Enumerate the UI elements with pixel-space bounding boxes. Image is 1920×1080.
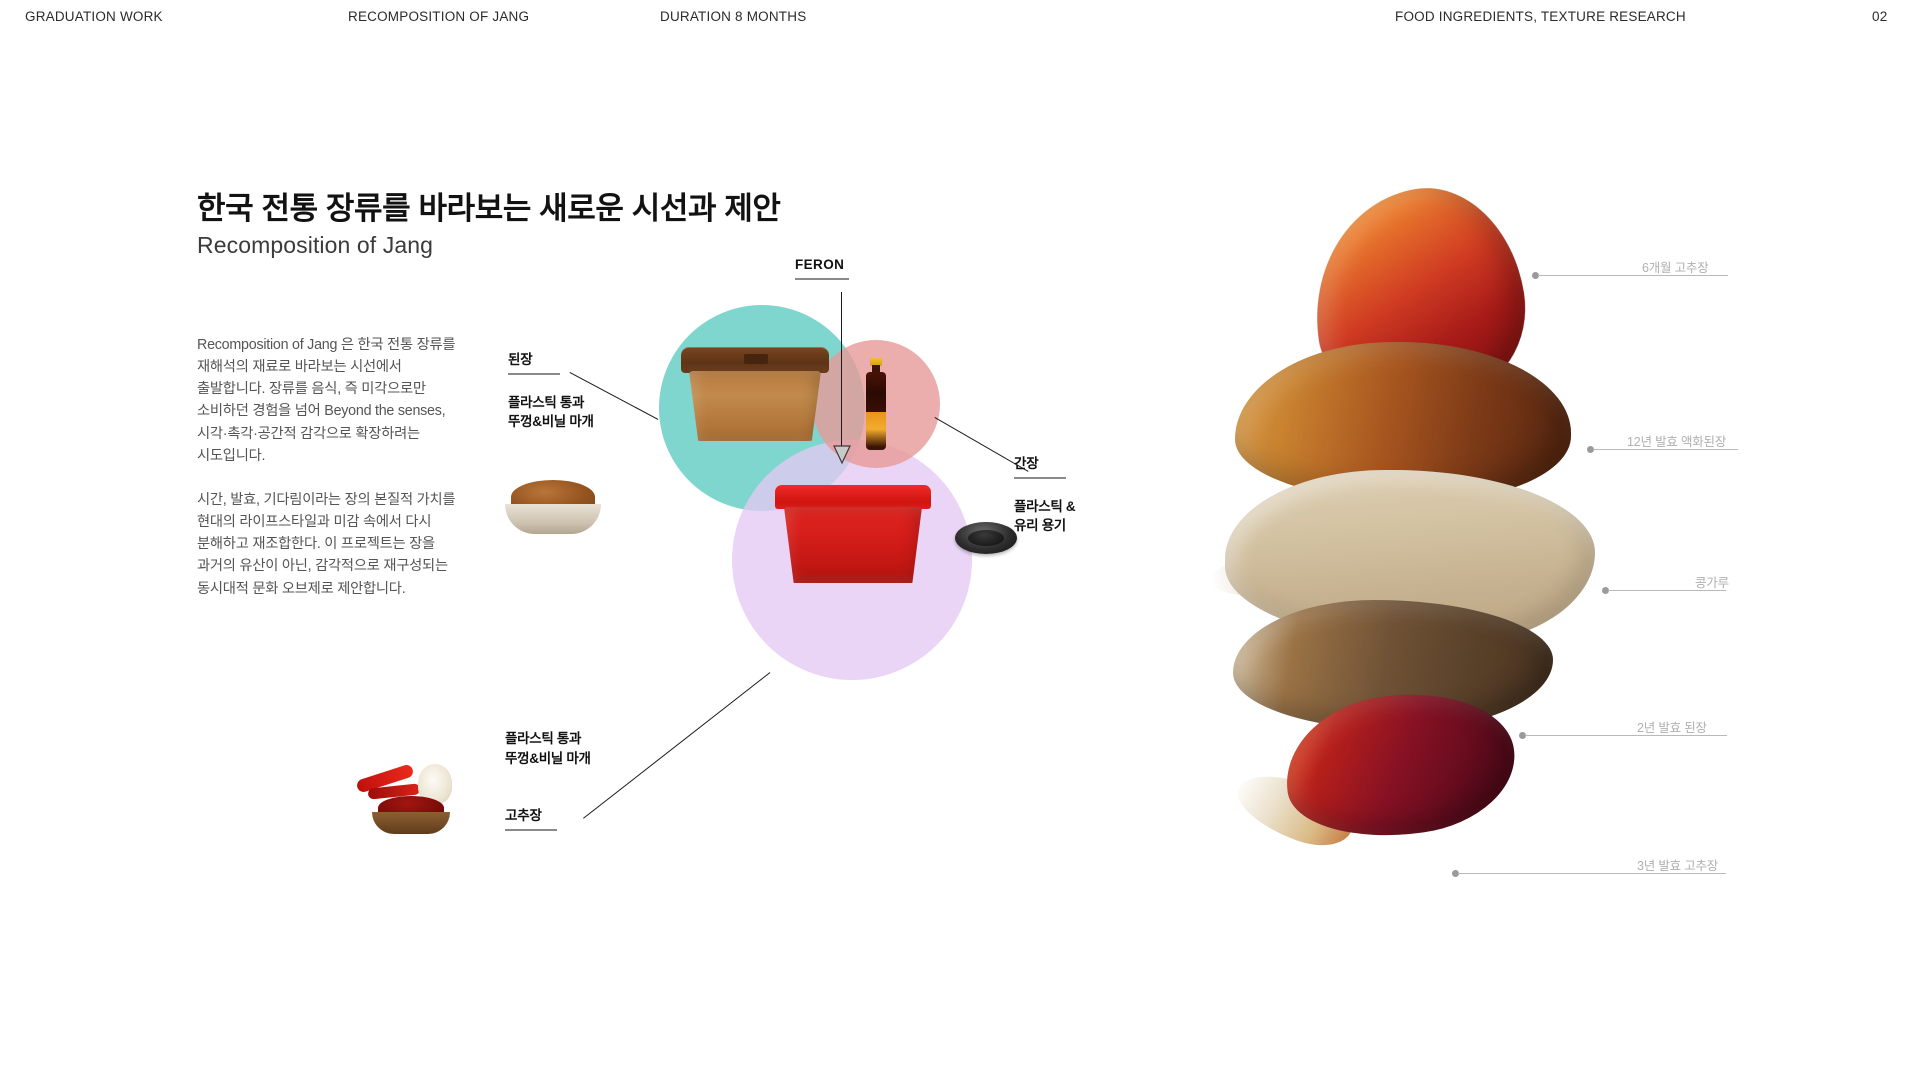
callout-gochujang-sub: 플라스틱 통과 뚜껑&비닐 마개 [505,729,591,768]
callout-sub-line-2: 뚜껑&비닐 마개 [508,412,594,432]
title-english: Recomposition of Jang [197,232,781,259]
description-paragraph-2: 시간, 발효, 기다림이라는 장의 본질적 가치를 현대의 라이프스타일과 미감… [197,489,462,600]
annotation-label: 2년 발효 된장 [1637,717,1707,736]
bottle-upper-body [866,372,886,414]
header-item-topic: FOOD INGREDIENTS, TEXTURE RESEARCH [1395,9,1686,24]
page-header: GRADUATION WORK RECOMPOSITION OF JANG DU… [0,0,1920,34]
title-korean: 한국 전통 장류를 바라보는 새로운 시선과 제안 [197,190,781,228]
callout-doenjang-sub: 플라스틱 통과 뚜껑&비닐 마개 [508,393,594,432]
callout-gochujang-tagwrap: 고추장 [505,804,591,831]
callout-gochujang-tag: 고추장 [505,804,542,824]
page-title: 한국 전통 장류를 바라보는 새로운 시선과 제안 Recomposition … [197,190,781,259]
container-body [689,371,821,441]
callout-gochujang: 플라스틱 통과 뚜껑&비닐 마개 고추장 [505,729,591,831]
container-body [784,507,922,583]
callout-rule [508,373,560,375]
page-number: 02 [1872,9,1887,24]
slide-page: GRADUATION WORK RECOMPOSITION OF JANG DU… [0,0,1920,1080]
callout-doenjang: 된장 플라스틱 통과 뚜껑&비닐 마개 [508,348,594,432]
callout-feron-label: FERON [795,257,844,272]
bowl-dish [505,504,601,534]
bottle-lower-body [866,412,886,450]
ganjang-bottle-image [863,357,889,451]
annotation-label: 콩가루 [1695,572,1729,591]
header-item-project-title: RECOMPOSITION OF JANG [348,9,529,24]
callout-sub-line-1: 플라스틱 통과 [505,729,591,749]
gochujang-connector-line [583,672,771,819]
callout-sub-line-2: 유리 용기 [1014,516,1075,536]
callout-rule [1014,477,1066,479]
bowl-dish [372,812,450,834]
doenjang-bowl-image [505,480,601,536]
container-clip [744,354,768,364]
doenjang-container-image [681,347,829,443]
description-paragraph-1: Recomposition of Jang 은 한국 전통 장류를 재해석의 재… [197,334,462,467]
description-block: Recomposition of Jang 은 한국 전통 장류를 재해석의 재… [197,334,462,600]
callout-sub-line-1: 플라스틱 통과 [508,393,594,413]
callout-sub-line-1: 플라스틱 & [1014,497,1075,517]
gochujang-bowl-image [358,760,468,832]
feron-connector-line [841,292,842,452]
food-texture-stack-image [1245,190,1675,950]
callout-rule [505,829,557,831]
callout-rule [795,278,849,280]
container-lid [775,485,931,509]
callout-ganjang: 간장 플라스틱 & 유리 용기 [1014,452,1075,536]
annotation-label: 12년 발효 액화된장 [1627,431,1726,450]
callout-feron: FERON [795,256,849,280]
header-item-duration: DURATION 8 MONTHS [660,9,806,24]
disc-inner [968,530,1004,546]
ganjang-cap-disc-image [955,522,1017,554]
feron-arrowhead [833,445,851,465]
callout-doenjang-tag: 된장 [508,348,532,368]
annotation-label: 6개월 고추장 [1642,257,1709,276]
callout-sub-line-2: 뚜껑&비닐 마개 [505,749,591,769]
gochujang-container-image [775,485,931,585]
header-item-graduation-work: GRADUATION WORK [25,9,163,24]
callout-ganjang-sub: 플라스틱 & 유리 용기 [1014,497,1075,536]
annotation-label: 3년 발효 고추장 [1637,855,1718,874]
callout-ganjang-tag: 간장 [1014,452,1038,472]
